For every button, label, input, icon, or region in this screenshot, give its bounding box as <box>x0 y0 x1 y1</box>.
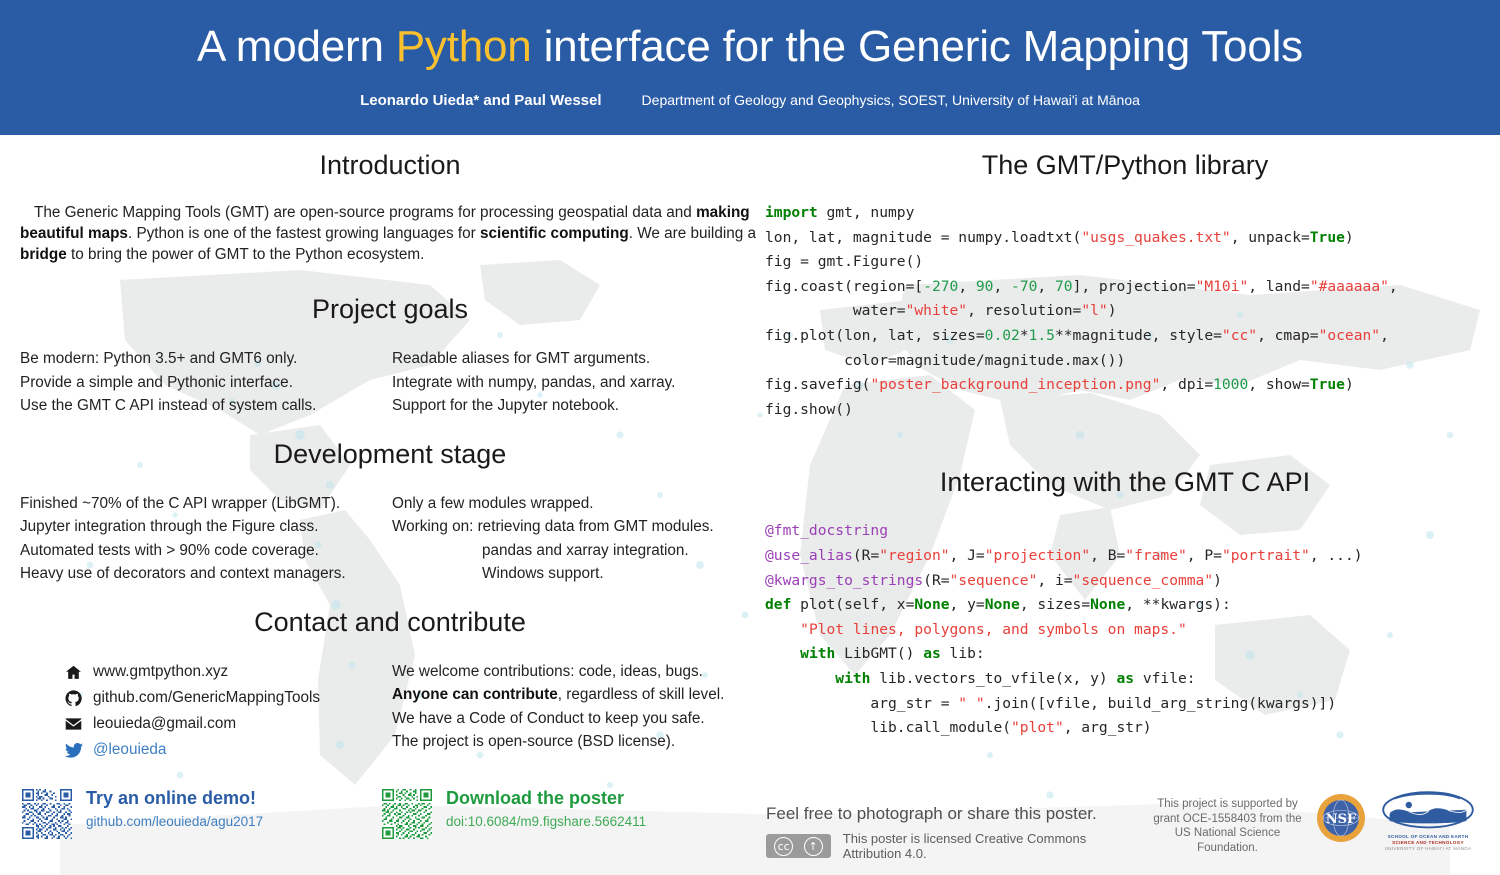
contact-item-label: @leouieda <box>93 741 166 759</box>
section-heading-development-stage: Development stage <box>20 439 760 470</box>
title-accent-python: Python <box>396 22 532 71</box>
qr-poster-text: Download the poster doi:10.6084/m9.figsh… <box>446 787 646 832</box>
list-item: pandas and xarray integration. <box>392 539 760 563</box>
section-heading-introduction: Introduction <box>20 150 760 181</box>
qr-block-demo[interactable]: Try an online demo! github.com/leouieda/… <box>22 787 263 839</box>
license-headline: Feel free to photograph or share this po… <box>766 803 1146 825</box>
soest-line-3: UNIVERSITY OF HAWAI'I AT MĀNOA <box>1380 846 1476 852</box>
github-icon <box>65 690 93 707</box>
code-block-library: import gmt, numpy lon, lat, magnitude = … <box>765 201 1485 422</box>
poster-canvas: A modern Python interface for the Generi… <box>0 0 1500 875</box>
contact-item-label: leouieda@gmail.com <box>93 715 236 733</box>
poster-footer: Try an online demo! github.com/leouieda/… <box>0 775 1500 875</box>
svg-text:NSF: NSF <box>1326 812 1357 827</box>
list-item: We have a Code of Conduct to keep you sa… <box>392 707 760 731</box>
list-item: Jupyter integration through the Figure c… <box>20 515 392 539</box>
license-text: This poster is licensed Creative Commons… <box>843 831 1146 861</box>
contact-columns: www.gmtpython.xyz github.com/GenericMapp… <box>20 660 760 764</box>
list-item: Finished ~70% of the C API wrapper (LibG… <box>20 492 392 516</box>
soest-logo-icon: SCHOOL OF OCEAN AND EARTH SCIENCE AND TE… <box>1380 789 1476 847</box>
title-part-1: A modern <box>197 22 396 71</box>
contribute-blurb: We welcome contributions: code, ideas, b… <box>392 660 760 764</box>
list-item: Readable aliases for GMT arguments. <box>392 347 760 371</box>
cc-by-glyph: ↑ <box>804 837 823 856</box>
project-goals-right: Readable aliases for GMT arguments. Inte… <box>392 347 760 418</box>
list-item: Provide a simple and Pythonic interface. <box>20 371 392 395</box>
qr-code-demo-icon <box>22 789 72 839</box>
license-row: cc ↑ This poster is licensed Creative Co… <box>766 831 1146 861</box>
sponsor-logos: NSF SCHOOL OF OCEAN AND EARTH SCIENCE AN… <box>1316 789 1476 847</box>
qr-demo-title: Try an online demo! <box>86 787 263 809</box>
contact-item-email[interactable]: leouieda@gmail.com <box>65 712 392 737</box>
code-block-capi: @fmt_docstring @use_alias(R="region", J=… <box>765 519 1485 740</box>
list-item: Support for the Jupyter notebook. <box>392 394 760 418</box>
qr-poster-title: Download the poster <box>446 787 646 809</box>
contact-links-list: www.gmtpython.xyz github.com/GenericMapp… <box>20 660 392 764</box>
list-item: Be modern: Python 3.5+ and GMT6 only. <box>20 347 392 371</box>
development-stage-left: Finished ~70% of the C API wrapper (LibG… <box>20 492 392 586</box>
contact-item-website[interactable]: www.gmtpython.xyz <box>65 660 392 685</box>
qr-poster-doi: doi:10.6084/m9.figshare.5662411 <box>446 812 646 832</box>
section-heading-capi: Interacting with the GMT C API <box>765 467 1485 498</box>
qr-block-poster[interactable]: Download the poster doi:10.6084/m9.figsh… <box>382 787 646 839</box>
list-item: The project is open-source (BSD license)… <box>392 730 760 754</box>
grant-acknowledgement: This project is supported by grant OCE-1… <box>1145 797 1310 855</box>
list-item: Use the GMT C API instead of system call… <box>20 394 392 418</box>
byline: Leonardo Uieda* and Paul WesselDepartmen… <box>0 92 1500 109</box>
license-block: Feel free to photograph or share this po… <box>766 803 1146 861</box>
home-icon <box>65 664 93 681</box>
list-item: Heavy use of decorators and context mana… <box>20 562 392 586</box>
list-item: We welcome contributions: code, ideas, b… <box>392 660 760 684</box>
introduction-paragraph: The Generic Mapping Tools (GMT) are open… <box>20 202 760 265</box>
qr-demo-text: Try an online demo! github.com/leouieda/… <box>86 787 263 832</box>
contact-item-github[interactable]: github.com/GenericMappingTools <box>65 686 392 711</box>
affiliation: Department of Geology and Geophysics, SO… <box>642 92 1140 108</box>
soest-caption: SCHOOL OF OCEAN AND EARTH SCIENCE AND TE… <box>1380 834 1476 853</box>
list-item: Windows support. <box>392 562 760 586</box>
list-item: Only a few modules wrapped. <box>392 492 760 516</box>
twitter-icon <box>65 743 93 758</box>
email-icon <box>65 717 93 731</box>
list-item: Automated tests with > 90% code coverage… <box>20 539 392 563</box>
left-column: Introduction The Generic Mapping Tools (… <box>20 150 760 764</box>
title-part-2: interface for the Generic Mapping Tools <box>532 22 1303 71</box>
list-item: Anyone can contribute, regardless of ski… <box>392 683 760 707</box>
qr-demo-url: github.com/leouieda/agu2017 <box>86 812 263 832</box>
nsf-logo-icon: NSF <box>1316 793 1366 843</box>
section-heading-project-goals: Project goals <box>20 294 760 325</box>
cc-glyph: cc <box>774 837 793 856</box>
contact-item-label: www.gmtpython.xyz <box>93 663 228 681</box>
development-stage-right: Only a few modules wrapped. Working on: … <box>392 492 760 586</box>
right-column: The GMT/Python library import gmt, numpy… <box>765 150 1485 741</box>
page-title: A modern Python interface for the Generi… <box>0 22 1500 72</box>
section-heading-library: The GMT/Python library <box>765 150 1485 181</box>
project-goals-left: Be modern: Python 3.5+ and GMT6 only. Pr… <box>20 347 392 418</box>
poster-header: A modern Python interface for the Generi… <box>0 0 1500 135</box>
list-item: Integrate with numpy, pandas, and xarray… <box>392 371 760 395</box>
creative-commons-icon: cc ↑ <box>766 834 831 858</box>
project-goals-columns: Be modern: Python 3.5+ and GMT6 only. Pr… <box>20 347 760 418</box>
author-names: Leonardo Uieda* and Paul Wessel <box>360 92 601 109</box>
qr-code-poster-icon <box>382 789 432 839</box>
list-item: Working on: retrieving data from GMT mod… <box>392 515 760 539</box>
contact-item-label: github.com/GenericMappingTools <box>93 689 320 707</box>
contact-item-twitter[interactable]: @leouieda <box>65 738 392 763</box>
development-stage-columns: Finished ~70% of the C API wrapper (LibG… <box>20 492 760 586</box>
section-heading-contact: Contact and contribute <box>20 607 760 638</box>
